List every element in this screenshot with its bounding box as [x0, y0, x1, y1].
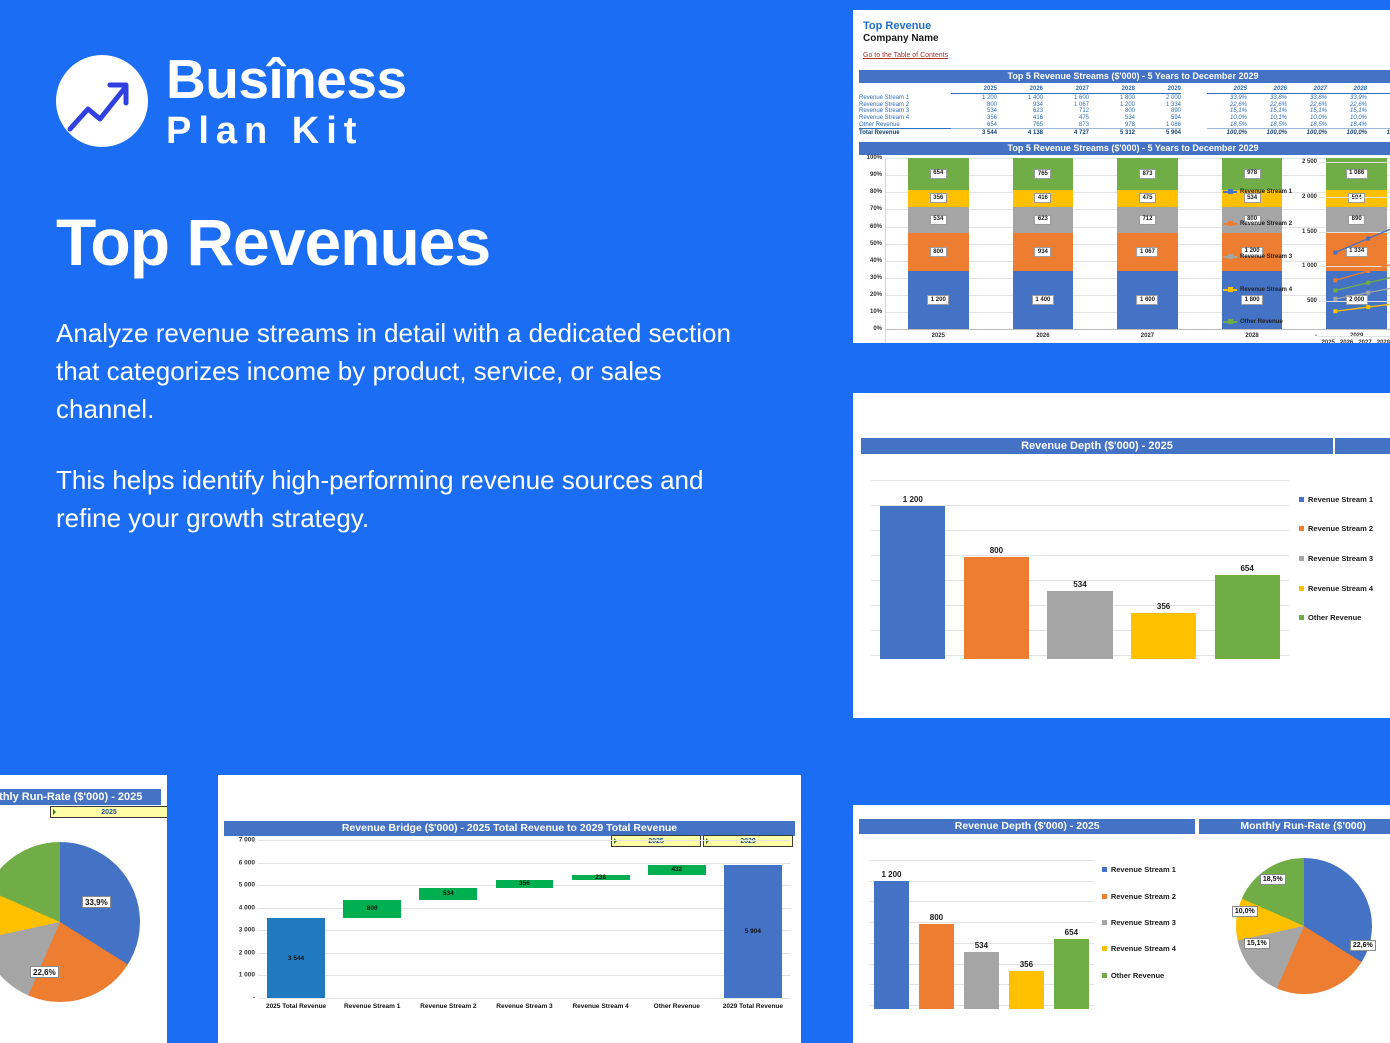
legend-label: Other Revenue	[1111, 971, 1164, 980]
company-name: Company Name	[863, 33, 1390, 44]
bar-value-label: 1 200	[881, 870, 901, 879]
table-of-contents-link[interactable]: Go to the Table of Contents	[863, 52, 948, 59]
waterfall-delta-bar: 432	[648, 865, 706, 875]
legend-item: Revenue Stream 1	[1223, 189, 1293, 195]
waterfall-value-label: 356	[519, 880, 530, 887]
y-tick: 60%	[870, 224, 882, 230]
segment-value-label: 1 067	[1136, 247, 1158, 257]
stacked-segment: 416	[1013, 190, 1074, 207]
stacked-segment: 623	[1013, 207, 1074, 233]
x-tick: 2027	[1095, 330, 1200, 343]
x-tick: 2026	[991, 330, 1096, 343]
legend-swatch	[1299, 556, 1304, 561]
bar-column: 356	[1004, 860, 1049, 1009]
legend-swatch	[1299, 497, 1304, 502]
waterfall-value-label: 800	[367, 905, 378, 912]
x-tick: Revenue Stream 3	[486, 1000, 562, 1020]
y-tick: 80%	[870, 189, 882, 195]
monthly-run-rate-pie: 33,9% 22,6% 15,1% 18,5%	[0, 834, 167, 1009]
stacked-segment: 1 067	[1117, 233, 1178, 272]
br-pie-label-s3: 15,1%	[1244, 938, 1270, 949]
revenue-percent-table: 20252026202720282029 33,9%33,8%33,8%33,9…	[1207, 86, 1390, 136]
x-tick: Revenue Stream 2	[410, 1000, 486, 1020]
segment-value-label: 654	[930, 169, 947, 179]
bridge-x-axis: 2025 Total RevenueRevenue Stream 1Revenu…	[258, 1000, 791, 1020]
waterfall-column: 238	[563, 840, 639, 998]
trend-plot	[1319, 162, 1390, 336]
x-tick: 2029 Total Revenue	[715, 1000, 791, 1020]
bridge-plot: 3 5448005343562384325 904	[258, 840, 791, 998]
table-row: Other Revenue6547658739781 086	[859, 122, 1181, 129]
legend-swatch	[1102, 973, 1107, 978]
bar	[964, 952, 999, 1009]
brand-name-line2: Plan Kit	[166, 112, 407, 150]
br-revenue-depth-legend: Revenue Stream 1Revenue Stream 2Revenue …	[1098, 834, 1198, 1019]
legend-label: Other Revenue	[1240, 319, 1283, 325]
bar	[1131, 613, 1196, 659]
legend-item: Revenue Stream 3	[1223, 254, 1293, 260]
legend-item: Revenue Stream 2	[1299, 524, 1390, 533]
legend-item: Other Revenue	[1299, 613, 1390, 622]
revenue-values-table: 20252026202720282029 Revenue Stream 11 2…	[859, 86, 1181, 136]
legend-swatch	[1299, 526, 1304, 531]
y-tick: 2 000	[239, 949, 255, 956]
slide-canvas: Busîness Plan Kit Top Revenues Analyze r…	[0, 0, 1390, 1043]
bar	[1054, 939, 1089, 1009]
br-pie-label-s4: 10,0%	[1232, 906, 1258, 917]
y-tick: 30%	[870, 275, 882, 281]
y-tick: 0%	[873, 326, 882, 332]
legend-label: Other Revenue	[1308, 613, 1361, 622]
bar	[1047, 591, 1112, 659]
legend-label: Revenue Stream 2	[1308, 524, 1373, 533]
waterfall-delta-bar: 356	[496, 880, 554, 888]
legend-swatch	[1223, 321, 1237, 323]
legend-item: Other Revenue	[1102, 971, 1198, 980]
stacked-segment: 712	[1117, 207, 1178, 233]
x-tick: 2025	[886, 330, 991, 343]
y-tick: 3 000	[239, 927, 255, 934]
bridge-y-axis: -1 0002 0003 0004 0005 0006 0007 000	[224, 840, 258, 998]
year-selector[interactable]: 2025	[50, 806, 167, 818]
waterfall-total-bar: 5 904	[724, 865, 782, 998]
y-tick: 1 500	[1302, 229, 1317, 235]
hero-section: Busîness Plan Kit Top Revenues Analyze r…	[56, 52, 796, 538]
segment-value-label: 800	[930, 247, 947, 257]
table-row: 15,1%15,1%15,1%15,1%15,1%	[1207, 108, 1390, 115]
brand-logo: Busîness Plan Kit	[56, 52, 796, 150]
x-tick: Other Revenue	[639, 1000, 715, 1020]
waterfall-total-bar: 3 544	[267, 918, 325, 998]
y-tick: -	[253, 995, 255, 1002]
segment-value-label: 1 400	[1032, 295, 1054, 305]
legend-label: Revenue Stream 4	[1111, 944, 1176, 953]
table-total-row: Total Revenue3 5444 1384 7275 3125 904	[859, 129, 1181, 136]
page-title: Top Revenues	[56, 208, 796, 277]
y-tick: 10%	[870, 309, 882, 315]
stacked-segment: 654	[908, 158, 969, 190]
segment-value-label: 1 600	[1136, 295, 1158, 305]
legend-swatch	[1223, 191, 1237, 193]
waterfall-column: 3 544	[258, 840, 334, 998]
waterfall-value-label: 534	[443, 890, 454, 897]
stacked-segment: 1 200	[908, 271, 969, 329]
bar-value-label: 356	[1020, 960, 1033, 969]
y-tick: 2 000	[1302, 194, 1317, 200]
legend-item: Revenue Stream 2	[1223, 221, 1293, 227]
depth-and-runrate-panel: Revenue Depth ($'000) - 2025 Monthly Run…	[853, 805, 1390, 1043]
br-pie-disc	[1236, 858, 1372, 994]
legend-item: Revenue Stream 3	[1102, 918, 1198, 927]
bar	[1215, 575, 1280, 659]
stacked-segment: 765	[1013, 158, 1074, 190]
table-row: 18,5%18,5%18,5%18,4%18,4%	[1207, 122, 1390, 129]
table-row: Revenue Stream 4356416475534594	[859, 115, 1181, 122]
br-monthly-run-rate-title: Monthly Run-Rate ($'000)	[1199, 819, 1390, 834]
legend-swatch	[1223, 289, 1237, 291]
waterfall-delta-bar: 534	[419, 888, 477, 900]
legend-item: Revenue Stream 4	[1299, 584, 1390, 593]
bar-column: 800	[955, 480, 1039, 659]
legend-label: Revenue Stream 2	[1111, 892, 1176, 901]
stacked-segment: 800	[908, 233, 969, 272]
bar-column: 800	[914, 860, 959, 1009]
revenue-bridge-chart: -1 0002 0003 0004 0005 0006 0007 000 3 5…	[224, 840, 795, 1020]
x-tick: 2025	[1319, 338, 1337, 343]
pie-label-s1: 33,9%	[82, 896, 111, 908]
y-tick: 20%	[870, 292, 882, 298]
segment-value-label: 475	[1139, 193, 1156, 203]
bar	[874, 881, 909, 1009]
pie-label-s2: 22,6%	[30, 966, 59, 978]
y-tick: 4 000	[239, 904, 255, 911]
y-tick: 500	[1307, 298, 1317, 304]
bar-value-label: 800	[930, 913, 943, 922]
table-banner: Top 5 Revenue Streams ($'000) - 5 Years …	[859, 70, 1390, 83]
monthly-run-rate-title: Monthly Run-Rate ($'000) - 2025	[0, 789, 161, 805]
legend-label: Revenue Stream 1	[1240, 189, 1292, 195]
table-row: 33,9%33,8%33,8%33,9%33,9%	[1207, 94, 1390, 101]
waterfall-column: 5 904	[715, 840, 791, 998]
bar-value-label: 654	[1065, 928, 1078, 937]
waterfall-value-label: 238	[595, 874, 606, 881]
trend-legend: Revenue Stream 1Revenue Stream 2Revenue …	[1221, 162, 1293, 343]
y-tick: 90%	[870, 172, 882, 178]
legend-swatch	[1223, 223, 1237, 225]
bar-column: 1 200	[871, 480, 955, 659]
x-tick: Revenue Stream 1	[334, 1000, 410, 1020]
hero-paragraph-2: This helps identify high-performing reve…	[56, 462, 746, 537]
revenue-depth-title-filler	[1335, 438, 1390, 454]
revenue-depth-chart: 1 200800534356654	[861, 454, 1293, 669]
legend-label: Revenue Stream 2	[1240, 221, 1292, 227]
bar-value-label: 534	[975, 941, 988, 950]
waterfall-column: 534	[410, 840, 486, 998]
bar-column: 654	[1205, 480, 1289, 659]
legend-label: Revenue Stream 1	[1308, 495, 1373, 504]
y-tick: 50%	[870, 241, 882, 247]
legend-item: Revenue Stream 1	[1102, 865, 1198, 874]
segment-value-label: 712	[1139, 215, 1156, 225]
legend-swatch	[1299, 615, 1304, 620]
legend-item: Other Revenue	[1223, 319, 1293, 325]
bar-column: 654	[1049, 860, 1094, 1009]
stacked-segment: 534	[908, 207, 969, 233]
legend-item: Revenue Stream 1	[1299, 495, 1390, 504]
y-tick: 70%	[870, 206, 882, 212]
stacked-segment: 1 400	[1013, 271, 1074, 329]
bar-column: 534	[959, 860, 1004, 1009]
waterfall-column: 356	[486, 840, 562, 998]
bar	[1009, 971, 1044, 1009]
waterfall-value-label: 432	[671, 866, 682, 873]
segment-value-label: 765	[1034, 169, 1051, 179]
segment-value-label: 356	[930, 193, 947, 203]
legend-swatch	[1299, 586, 1304, 591]
bar-value-label: 534	[1073, 580, 1086, 589]
trend-line-chart: Revenue Stream 1Revenue Stream 2Revenue …	[1221, 162, 1390, 343]
waterfall-delta-bar: 238	[572, 875, 630, 880]
bar-column: 356	[1122, 480, 1206, 659]
table-row: 10,0%10,1%10,0%10,0%10,1%	[1207, 115, 1390, 122]
brand-name-line1: Busîness	[166, 52, 407, 107]
pie-disc	[0, 842, 140, 1002]
waterfall-value-label: 5 904	[745, 928, 761, 935]
bar-value-label: 654	[1240, 564, 1253, 573]
y-tick: 1 000	[1302, 263, 1317, 269]
legend-swatch	[1223, 256, 1237, 258]
legend-label: Revenue Stream 3	[1111, 918, 1176, 927]
sheet-header: Top Revenue Company Name Go to the Table…	[853, 20, 1390, 62]
y-tick: 5 000	[239, 882, 255, 889]
bar-value-label: 1 200	[903, 495, 923, 504]
revenue-table-wrap: 20252026202720282029 Revenue Stream 11 2…	[853, 83, 1390, 136]
segment-value-label: 534	[930, 215, 947, 225]
y-tick: 2 500	[1302, 159, 1317, 165]
y-tick: 6 000	[239, 859, 255, 866]
y-tick: 100%	[867, 155, 882, 161]
br-revenue-depth-chart: 1 200800534356654	[859, 834, 1098, 1019]
x-tick: 2025 Total Revenue	[258, 1000, 334, 1020]
y-tick: 7 000	[239, 837, 255, 844]
legend-swatch	[1102, 946, 1107, 951]
stacked-segment: 475	[1117, 190, 1178, 207]
legend-item: Revenue Stream 4	[1223, 287, 1293, 293]
br-pie-label-s5: 18,5%	[1260, 874, 1286, 885]
table-total-row: 100,0%100,0%100,0%100,0%100,0%	[1207, 129, 1390, 136]
stacked-column: 1 200800534356654	[886, 158, 991, 329]
waterfall-column: 432	[639, 840, 715, 998]
revenue-bridge-panel: Revenue Bridge ($'000) - 2025 Total Reve…	[218, 775, 801, 1043]
bar-column: 534	[1038, 480, 1122, 659]
revenue-bridge-title: Revenue Bridge ($'000) - 2025 Total Reve…	[224, 821, 795, 836]
stacked-segment: 873	[1117, 158, 1178, 190]
legend-swatch	[1102, 894, 1107, 899]
bar	[919, 924, 954, 1009]
revenue-depth-title: Revenue Depth ($'000) - 2025	[861, 438, 1333, 454]
waterfall-value-label: 3 544	[288, 955, 304, 962]
bar-value-label: 356	[1157, 602, 1170, 611]
revenue-depth-legend: Revenue Stream 1Revenue Stream 2Revenue …	[1293, 454, 1390, 669]
segment-value-label: 623	[1034, 215, 1051, 225]
y-tick: 40%	[870, 258, 882, 264]
legend-label: Revenue Stream 4	[1240, 287, 1292, 293]
hero-paragraph-1: Analyze revenue streams in detail with a…	[56, 315, 746, 428]
br-monthly-run-rate-pie: 22,6% 15,1% 10,0% 18,5%	[1198, 834, 1390, 1019]
table-row: Revenue Stream 28009341 0671 2001 334	[859, 101, 1181, 108]
legend-swatch	[1102, 867, 1107, 872]
sheet-title: Top Revenue	[863, 20, 1390, 32]
x-tick: 2026	[1337, 338, 1355, 343]
y-tick: -	[1315, 333, 1317, 339]
stacked-segment: 356	[908, 190, 969, 207]
revenue-depth-panel: Revenue Depth ($'000) - 2025 1 200800534…	[853, 393, 1390, 718]
segment-value-label: 416	[1034, 193, 1051, 203]
br-revenue-depth-title: Revenue Depth ($'000) - 2025	[859, 819, 1195, 834]
br-pie-label-s2: 22,6%	[1350, 940, 1376, 951]
waterfall-delta-bar: 800	[343, 900, 401, 918]
segment-value-label: 934	[1034, 247, 1051, 257]
legend-item: Revenue Stream 4	[1102, 944, 1198, 953]
y-tick: 1 000	[239, 972, 255, 979]
x-tick: Revenue Stream 4	[563, 1000, 639, 1020]
waterfall-column: 800	[334, 840, 410, 998]
x-tick: 2027	[1356, 338, 1374, 343]
legend-swatch	[1102, 920, 1107, 925]
chart-banner: Top 5 Revenue Streams ($'000) - 5 Years …	[859, 142, 1390, 155]
stacked-column: 1 400934623416765	[991, 158, 1096, 329]
table-row: 22,6%22,6%22,6%22,6%22,6%	[1207, 101, 1390, 108]
stacked-segment: 1 600	[1117, 271, 1178, 329]
legend-item: Revenue Stream 3	[1299, 554, 1390, 563]
bar	[880, 506, 945, 659]
bar-value-label: 800	[990, 546, 1003, 555]
x-tick: 2028	[1374, 338, 1390, 343]
growth-arrow-icon	[56, 55, 148, 147]
segment-value-label: 873	[1139, 169, 1156, 179]
trend-x-axis: 20252026202720282029	[1319, 338, 1390, 343]
legend-label: Revenue Stream 3	[1240, 254, 1292, 260]
stacked-column: 1 6001 067712475873	[1095, 158, 1200, 329]
legend-label: Revenue Stream 1	[1111, 865, 1176, 874]
top-revenue-sheet-panel: Top Revenue Company Name Go to the Table…	[853, 10, 1390, 343]
legend-item: Revenue Stream 2	[1102, 892, 1198, 901]
legend-label: Revenue Stream 3	[1308, 554, 1373, 563]
stacked-segment: 934	[1013, 233, 1074, 272]
bar-column: 1 200	[869, 860, 914, 1009]
trend-y-axis: -5001 0001 5002 0002 500	[1293, 162, 1319, 336]
segment-value-label: 1 200	[927, 295, 949, 305]
stacked-y-axis: 0%10%20%30%40%50%60%70%80%90%100%	[857, 158, 885, 343]
table-row: Revenue Stream 3534623712800890	[859, 108, 1181, 115]
legend-label: Revenue Stream 4	[1308, 584, 1373, 593]
table-row: Revenue Stream 11 2001 4001 6001 8002 00…	[859, 94, 1181, 101]
monthly-run-rate-panel: Monthly Run-Rate ($'000) - 2025 2025 33,…	[0, 775, 167, 1043]
bar	[964, 557, 1029, 659]
